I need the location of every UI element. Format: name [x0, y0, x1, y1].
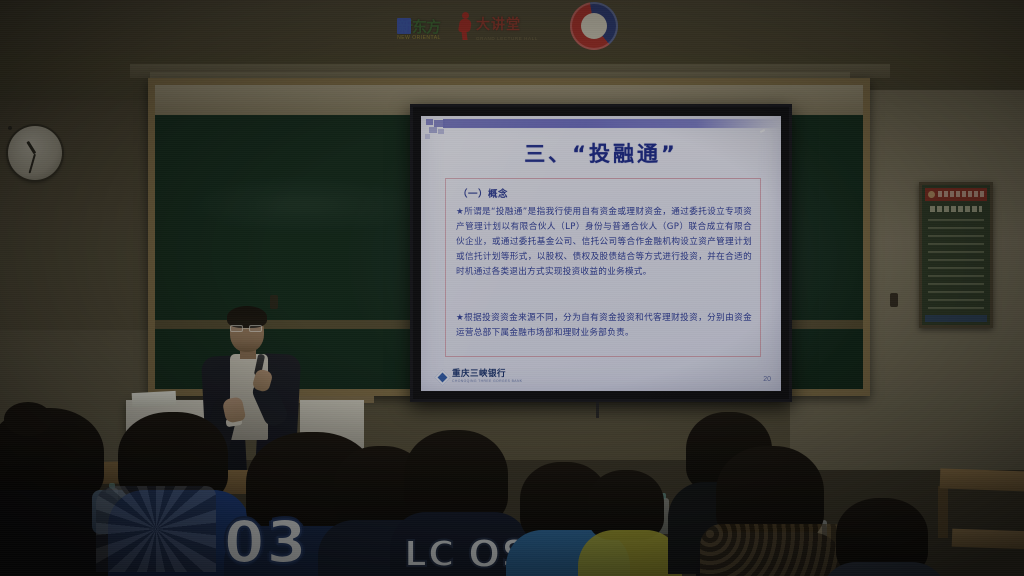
university-emblem-core [397, 18, 411, 34]
clock-minute-hand [29, 153, 36, 173]
lecture-hall-logo: 大讲堂 [476, 14, 562, 36]
wall-logo-band: 新东方 NEW ORIENTAL 大讲堂 GRAND LECTURE HALL [380, 2, 620, 54]
new-oriental-logo-subtitle: NEW ORIENTAL [390, 35, 448, 41]
projection-screen: 三、“投融通” （一）概念 ★所谓是“投融通”是指我行使用自有资金或理财资金，通… [410, 104, 792, 402]
screen-highlight-dot [760, 129, 765, 133]
audience-patterned-scarf [96, 486, 216, 572]
presentation-slide: 三、“投融通” （一）概念 ★所谓是“投融通”是指我行使用自有资金或理财资金，通… [421, 116, 781, 391]
lecture-hall-logo-subtitle: GRAND LECTURE HALL [476, 36, 566, 41]
poster-body-text [928, 219, 984, 311]
slide-header-band [443, 119, 781, 128]
poster-header-text [938, 191, 984, 197]
slide-title: 三、“投融通” [421, 138, 781, 168]
desk-right-far-lower [952, 529, 1024, 550]
poster-footer-band [925, 315, 987, 322]
desk-right-far [940, 468, 1024, 491]
desk-right-leg [938, 486, 948, 538]
audience-member [0, 408, 104, 504]
bank-logo: 重庆三峡银行 CHONGQING THREE GORGES BANK [437, 370, 522, 384]
lecture-hall-photo: 新东方 NEW ORIENTAL 大讲堂 GRAND LECTURE HALL [0, 0, 1024, 576]
slide-page-number: 20 [763, 376, 771, 383]
screen-stand [596, 402, 599, 418]
glasses-icon [229, 325, 265, 332]
poster-title [930, 206, 982, 212]
lectern-papers [132, 391, 177, 407]
jersey-text-left: LC [404, 534, 474, 575]
audience-body [578, 530, 682, 576]
clock-hour-hand [26, 141, 36, 154]
audience-hair-bun [4, 402, 52, 436]
poster-header-icon [928, 191, 935, 198]
clock-center-pin [8, 126, 12, 130]
slide-content-box: （一）概念 ★所谓是“投融通”是指我行使用自有资金或理财资金，通过委托设立专项资… [445, 178, 761, 357]
university-emblem-icon [570, 2, 618, 50]
audience-member [404, 430, 508, 526]
wall-poster [919, 182, 993, 328]
audience-leopard-coat [700, 524, 850, 576]
audience-member [836, 498, 928, 576]
red-figure-icon [456, 12, 474, 40]
slide-section-heading: （一）概念 [458, 186, 508, 200]
slide-paragraph-1: ★所谓是“投融通”是指我行使用自有资金或理财资金，通过委托设立专项资产管理计划以… [456, 205, 752, 280]
audience-member [588, 470, 664, 540]
wall-clock-icon [8, 126, 62, 180]
bank-logo-name-en: CHONGQING THREE GORGES BANK [452, 379, 522, 384]
slide-paragraph-2: ★根据投资资金来源不同，分为自有资金投资和代客理财投资，分别由资金运营总部下属金… [456, 311, 752, 341]
bank-logo-name-cn: 重庆三峡银行 [452, 370, 522, 379]
diamond-icon [435, 369, 451, 385]
chalk-smudge [185, 175, 425, 235]
poster-header-band [925, 188, 987, 201]
chalkboard-hook-right [890, 293, 898, 307]
